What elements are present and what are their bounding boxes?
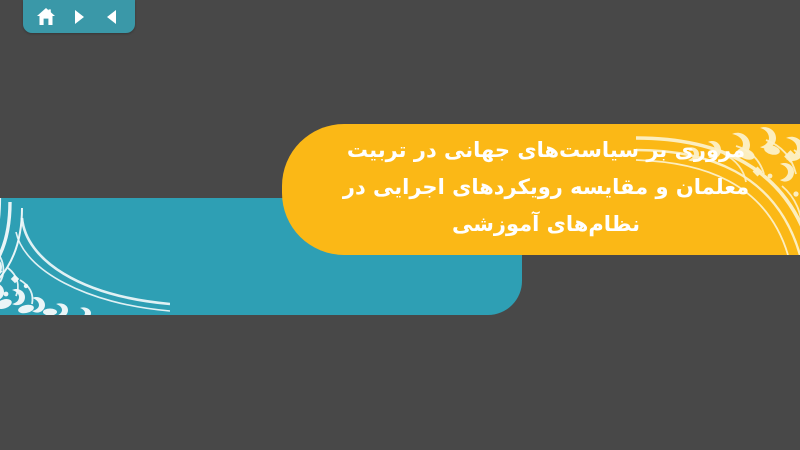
next-slide-button[interactable]: [66, 4, 92, 30]
orange-banner: [282, 124, 800, 255]
presentation-slide: مروری بر سیاست‌های جهانی در تربیت معلمان…: [0, 0, 800, 450]
arabesque-corner-ornament-icon: [636, 124, 800, 255]
triangle-right-icon: [69, 7, 89, 27]
slide-navigation-bar: [23, 0, 135, 33]
home-icon: [35, 6, 57, 28]
triangle-left-icon: [102, 7, 122, 27]
arabesque-corner-ornament-icon: [0, 198, 170, 315]
previous-slide-button[interactable]: [99, 4, 125, 30]
home-button[interactable]: [33, 4, 59, 30]
